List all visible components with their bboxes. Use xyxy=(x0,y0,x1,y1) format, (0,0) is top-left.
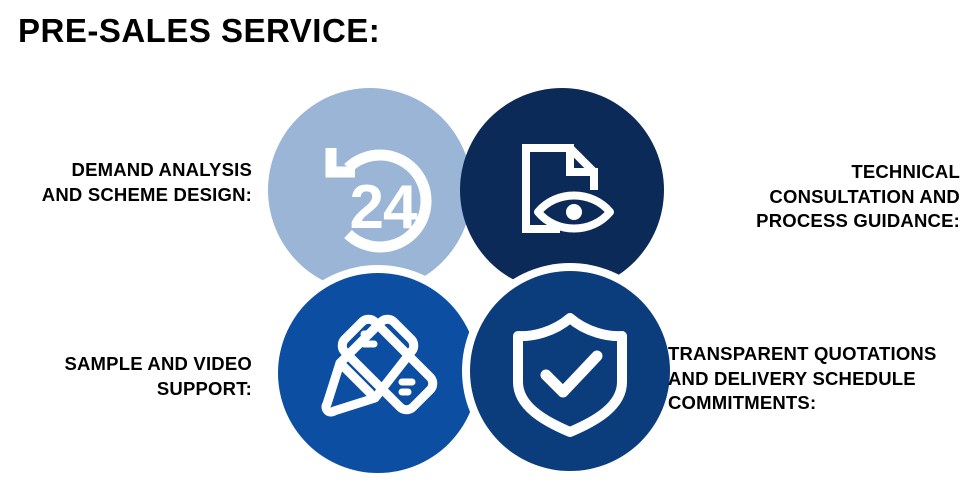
label-technical-consultation: TECHNICAL CONSULTATION AND PROCESS GUIDA… xyxy=(728,160,960,234)
circle-sample-video-shape xyxy=(278,273,478,473)
label-demand-analysis: DEMAND ANALYSIS AND SCHEME DESIGN: xyxy=(0,158,252,207)
circle-technical-consultation[interactable] xyxy=(460,88,664,292)
circle-demand-analysis[interactable]: 24 xyxy=(268,88,472,292)
circle-sample-video-support[interactable] xyxy=(270,265,486,481)
circle-transparent-quotations-shape xyxy=(470,271,670,471)
label-sample-video-support: SAMPLE AND VIDEO SUPPORT: xyxy=(0,352,252,401)
clock-24-icon-text: 24 xyxy=(350,173,418,242)
cluster-svg: 24 xyxy=(0,0,960,498)
circle-transparent-quotations[interactable] xyxy=(462,263,678,479)
circle-technical-consultation-shape xyxy=(460,88,664,292)
label-transparent-quotations: TRANSPARENT QUOTATIONS AND DELIVERY SCHE… xyxy=(668,342,960,416)
circle-cluster: 24 xyxy=(0,0,960,498)
